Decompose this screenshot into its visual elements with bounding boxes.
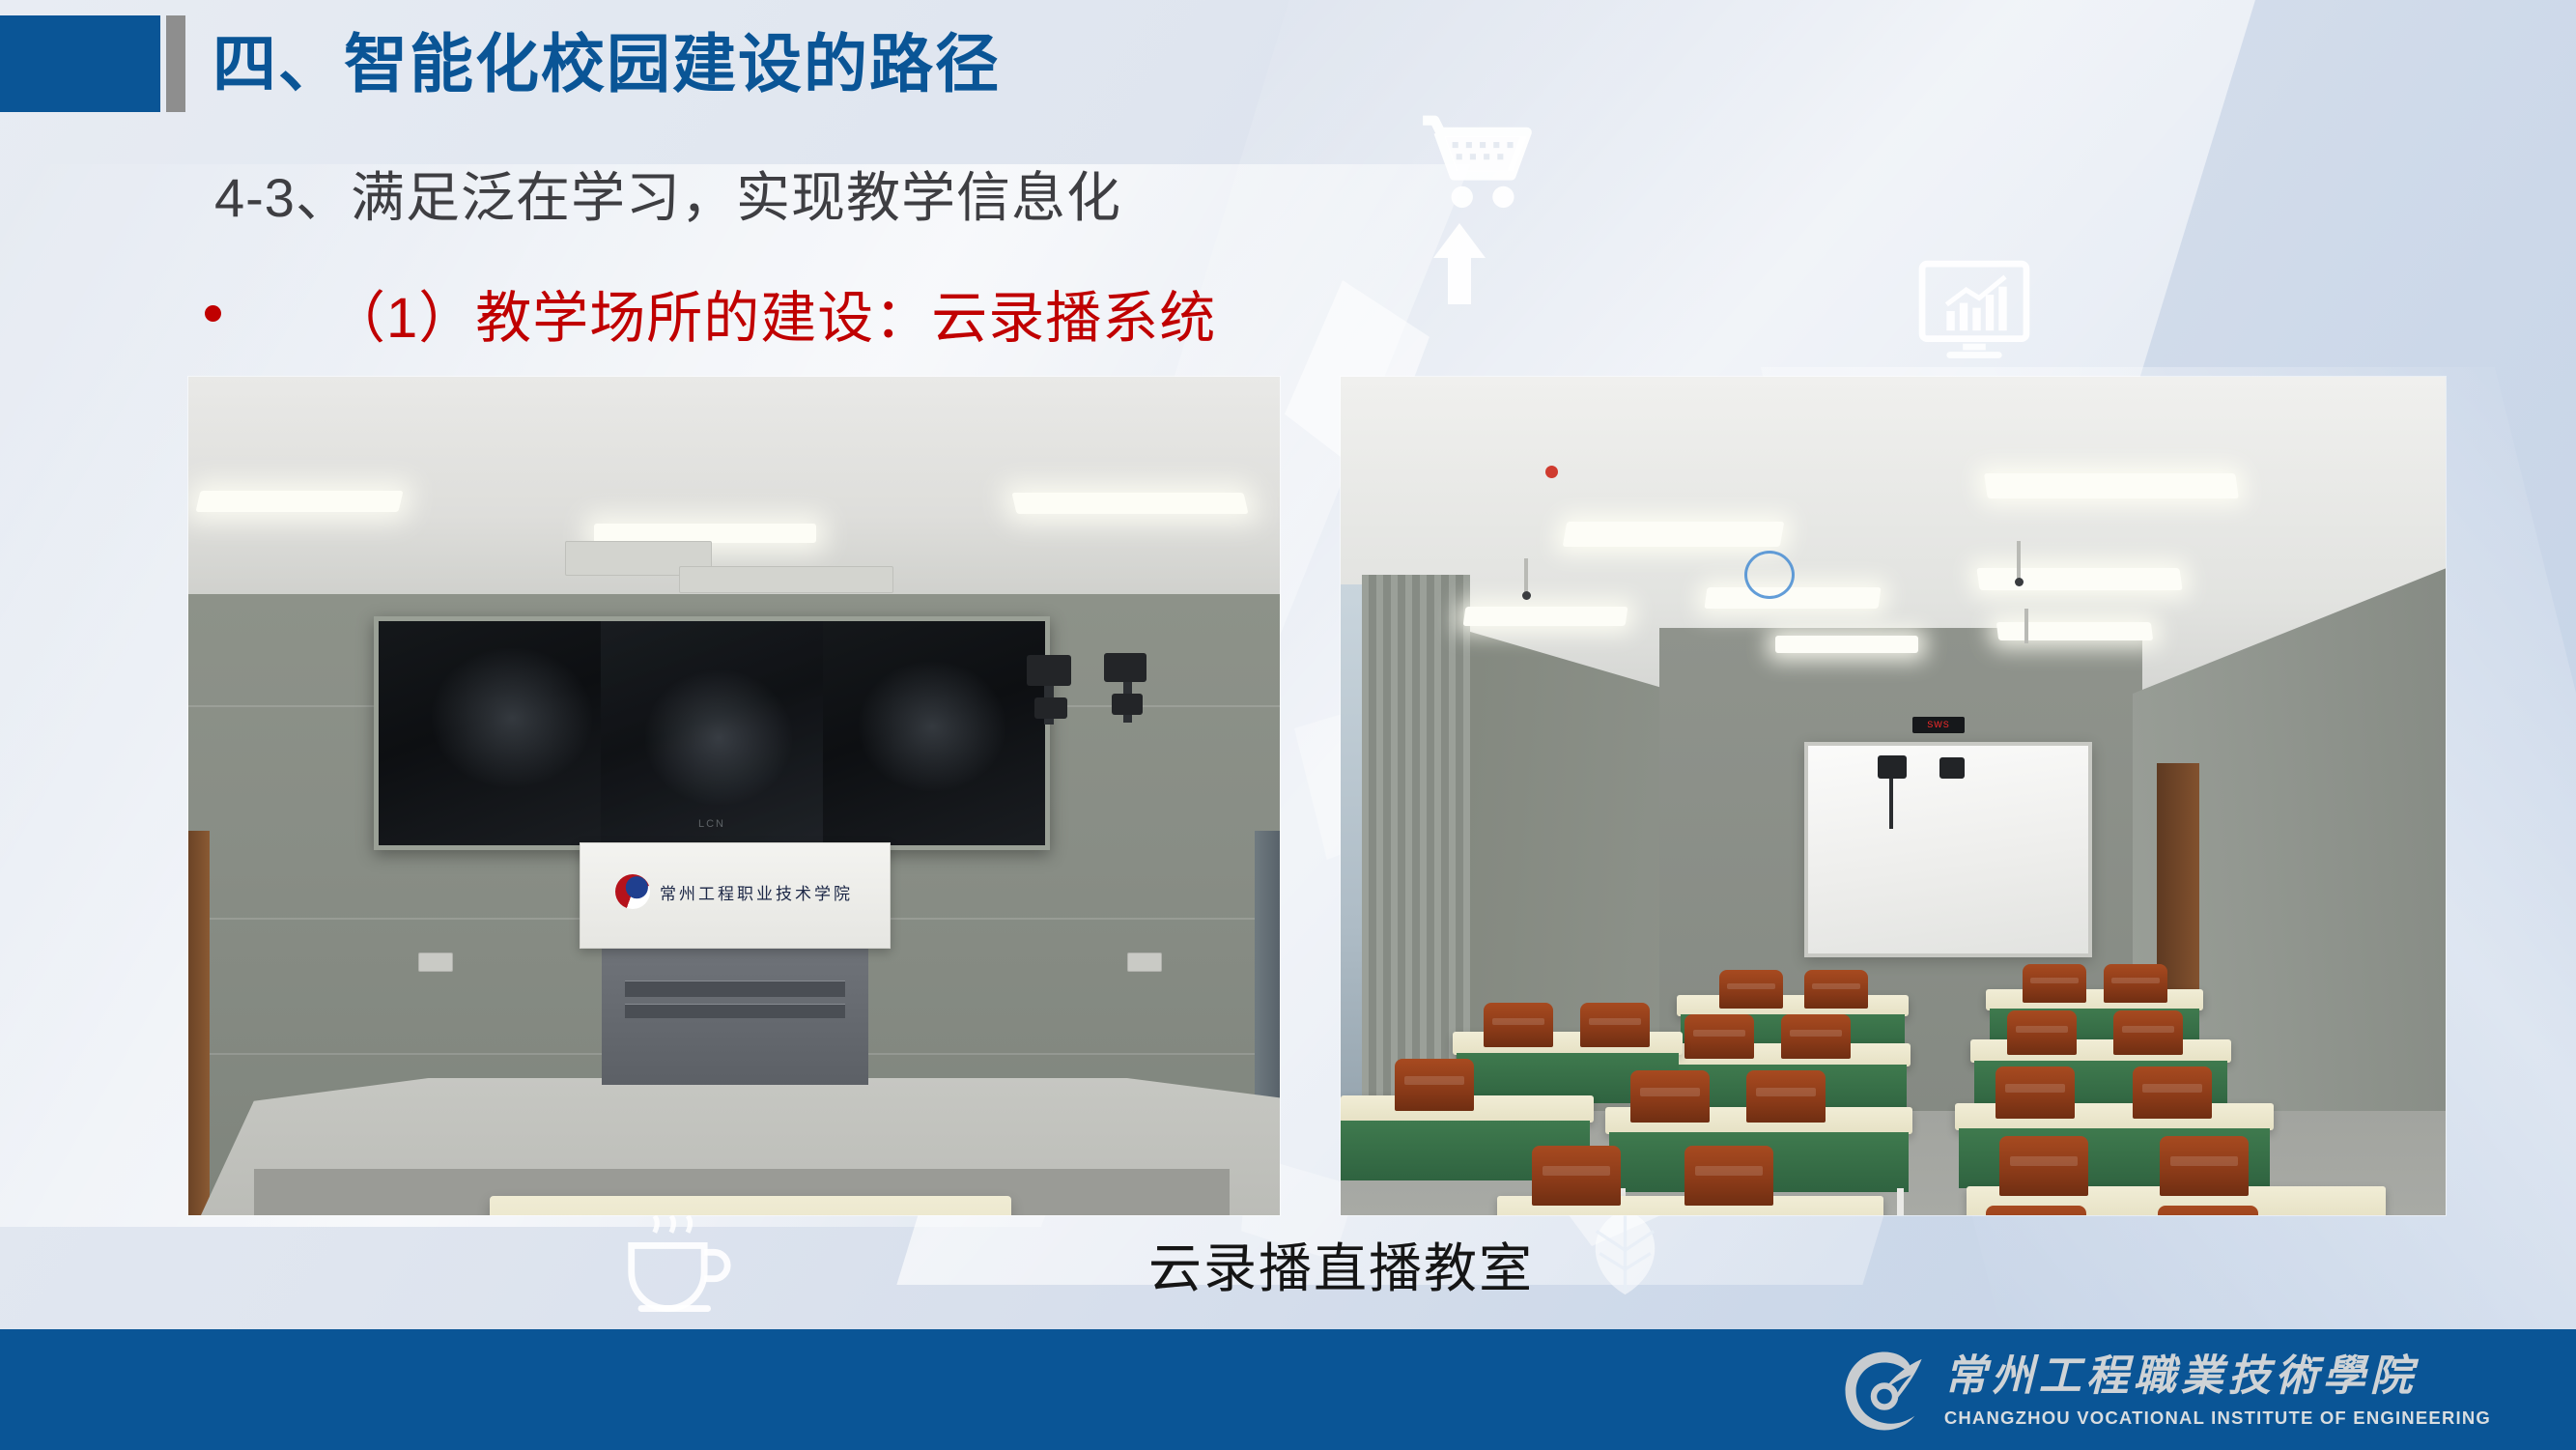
lecture-hall-photo: LCN 常州工程职业技术学院 — [188, 377, 1280, 1215]
wall-camera — [1104, 653, 1146, 682]
chair — [1804, 970, 1868, 1009]
ceiling-light — [1984, 473, 2239, 498]
ceiling-light — [1976, 568, 2182, 590]
chair — [1781, 1014, 1851, 1059]
up-arrow-icon — [1430, 220, 1489, 307]
section-subheading: 4-3、满足泛在学习，实现教学信息化 — [214, 155, 1121, 233]
display-brand-label: LCN — [698, 818, 725, 830]
chair — [1684, 1146, 1773, 1206]
institution-names: 常州工程職業技術學院 CHANGZHOU VOCATIONAL INSTITUT… — [1944, 1353, 2491, 1429]
institution-name-cn: 常州工程職業技術學院 — [1944, 1353, 2491, 1400]
podium-branding: 常州工程职业技术学院 — [615, 874, 853, 909]
institution-logo-block: 常州工程職業技術學院 CHANGZHOU VOCATIONAL INSTITUT… — [1840, 1347, 2491, 1436]
chair — [1484, 1003, 1553, 1047]
student-desk — [1677, 995, 1909, 1016]
chair — [1719, 970, 1783, 1009]
chair — [1580, 1003, 1650, 1047]
title-accent-gray-bar — [166, 15, 185, 112]
front-desk — [490, 1196, 1011, 1215]
chair — [2007, 1010, 2077, 1055]
ceiling-hook — [1524, 558, 1528, 593]
page-title: 四、智能化校园建设的路径 — [212, 32, 1001, 96]
projector-camera — [1939, 757, 1965, 779]
bullet-item: （1）教学场所的建设：云录播系统 — [205, 272, 1216, 354]
podium-vent — [625, 1004, 845, 1018]
chair — [1986, 1206, 2086, 1215]
slide-title-block: 四、智能化校园建设的路径 — [0, 14, 1256, 114]
ceiling-light — [1996, 622, 2153, 640]
chair — [2158, 1206, 2258, 1215]
chair — [2104, 964, 2167, 1003]
chair — [1684, 1014, 1754, 1059]
wall-socket — [1127, 952, 1162, 972]
ceiling-light — [195, 491, 403, 512]
classroom-seating-photo: SWS — [1341, 377, 2446, 1215]
multi-panel-display: LCN — [374, 616, 1050, 850]
podium-base — [602, 942, 868, 1085]
bullet-dot-icon — [205, 305, 221, 322]
wall-camera — [1034, 697, 1067, 719]
slide-footer: 常州工程職業技術學院 CHANGZHOU VOCATIONAL INSTITUT… — [0, 1329, 2576, 1450]
wall-socket — [418, 952, 453, 972]
monitor-chart-icon — [1917, 259, 2031, 363]
led-display: SWS — [1912, 717, 1965, 733]
ceiling-light — [1011, 493, 1248, 514]
desk-leg — [1897, 1188, 1904, 1215]
chair — [2133, 1066, 2212, 1119]
student-desk — [1986, 989, 2203, 1010]
wall-camera — [1027, 655, 1071, 686]
wall-camera — [1112, 694, 1143, 715]
ceiling-light — [1775, 636, 1918, 653]
ceiling-hook — [2024, 609, 2028, 643]
title-accent-square — [0, 15, 160, 112]
side-door — [188, 831, 210, 1215]
photo-caption: 云录播直播教室 — [0, 1225, 2576, 1302]
ceiling-vent — [679, 566, 893, 593]
ceiling-hook-end — [2015, 578, 2024, 586]
chair — [1746, 1070, 1826, 1123]
changzhou-vie-logo-icon — [1840, 1347, 1929, 1436]
presentation-slide: 四、智能化校园建设的路径 4-3、满足泛在学习，实现教学信息化 （1）教学场所的… — [0, 0, 2576, 1450]
ceiling-hook-end — [1522, 591, 1531, 600]
ceiling-decoration — [1744, 551, 1795, 599]
chair — [2023, 964, 2086, 1003]
shopping-cart-icon — [1415, 106, 1541, 237]
camera-cable — [1889, 779, 1893, 829]
ceiling-light — [1704, 587, 1881, 609]
chair — [1999, 1136, 2088, 1196]
ceiling-light — [594, 524, 816, 543]
podium-logo-label: 常州工程职业技术学院 — [660, 880, 853, 904]
chair — [1532, 1146, 1621, 1206]
podium: 常州工程职业技术学院 — [580, 842, 891, 949]
chair — [1996, 1066, 2075, 1119]
school-logo-icon — [615, 874, 650, 909]
photo-caption-label: 云录播直播教室 — [1148, 1225, 1534, 1302]
chair — [1630, 1070, 1710, 1123]
ceiling-light — [1563, 522, 1785, 547]
ceiling-hook — [2017, 541, 2021, 580]
chair — [2160, 1136, 2249, 1196]
projector-camera — [1878, 755, 1907, 779]
podium-vent — [625, 981, 845, 997]
chair — [1395, 1059, 1474, 1111]
bullet-item-label: （1）教学场所的建设：云录播系统 — [329, 272, 1216, 354]
smoke-detector-icon — [1545, 466, 1558, 478]
chair — [2113, 1010, 2183, 1055]
institution-name-en: CHANGZHOU VOCATIONAL INSTITUTE OF ENGINE… — [1944, 1407, 2491, 1429]
ceiling-light — [1463, 607, 1628, 626]
